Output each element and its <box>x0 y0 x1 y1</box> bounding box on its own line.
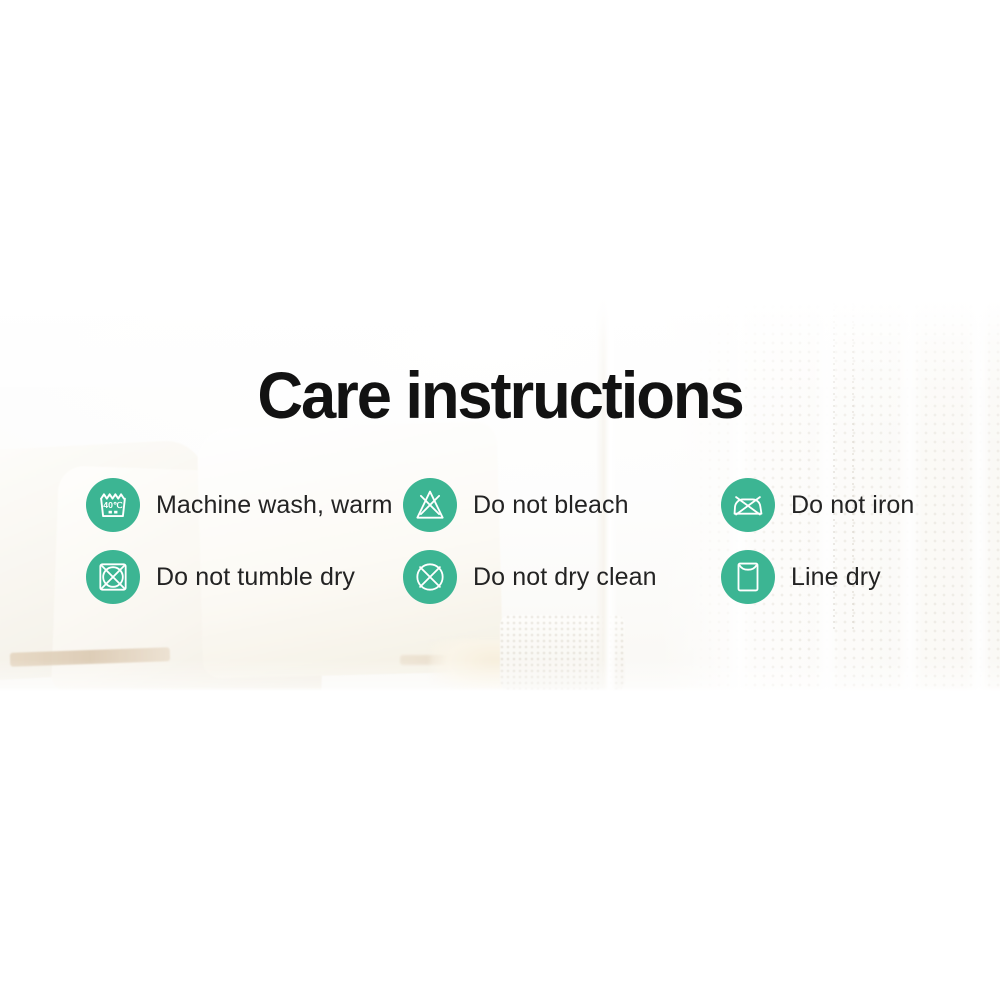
care-item-label: Do not iron <box>791 493 914 518</box>
care-symbol-grid: 40℃ Machine wash, warm <box>86 478 966 622</box>
care-item-label: Do not bleach <box>473 493 629 518</box>
care-item-label: Machine wash, warm <box>156 493 393 518</box>
page-title: Care instructions <box>20 362 980 428</box>
care-row: 40℃ Machine wash, warm <box>86 478 966 550</box>
banner-content: Care instructions 40℃ <box>0 0 1000 1000</box>
care-item-machine-wash-warm: 40℃ Machine wash, warm <box>86 478 403 532</box>
line-dry-icon <box>721 550 775 604</box>
care-item-do-not-iron: Do not iron <box>721 478 961 532</box>
do-not-dry-clean-icon <box>403 550 457 604</box>
care-item-do-not-bleach: Do not bleach <box>403 478 721 532</box>
care-item-line-dry: Line dry <box>721 550 961 604</box>
care-instructions-banner: Care instructions 40℃ <box>0 0 1000 1000</box>
care-item-label: Line dry <box>791 565 881 590</box>
care-item-label: Do not dry clean <box>473 565 657 590</box>
svg-text:40℃: 40℃ <box>103 500 123 510</box>
do-not-iron-icon <box>721 478 775 532</box>
care-row: Do not tumble dry Do not dry clean <box>86 550 966 622</box>
do-not-tumble-dry-icon <box>86 550 140 604</box>
do-not-bleach-triangle-icon <box>403 478 457 532</box>
care-item-label: Do not tumble dry <box>156 565 355 590</box>
care-item-do-not-tumble-dry: Do not tumble dry <box>86 550 403 604</box>
wash-tub-40c-icon: 40℃ <box>86 478 140 532</box>
care-item-do-not-dry-clean: Do not dry clean <box>403 550 721 604</box>
